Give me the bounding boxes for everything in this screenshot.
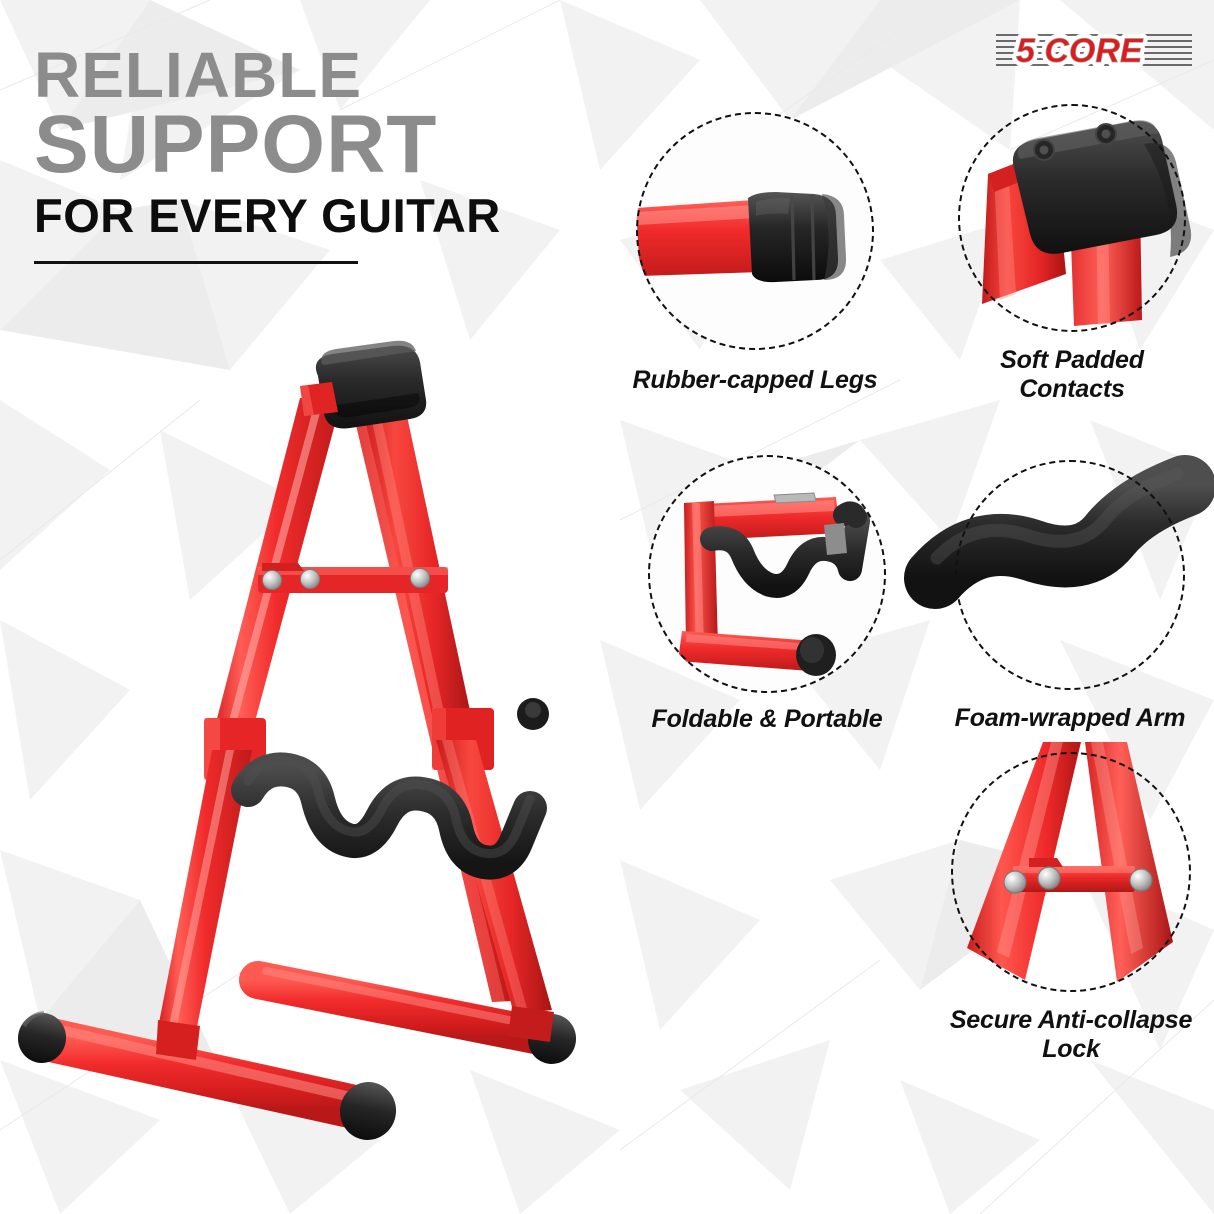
- logo-text: 5 CORE: [1016, 32, 1144, 70]
- callout-label-foam: Foam-wrapped Arm: [930, 704, 1210, 733]
- rubber-cap-leg-icon: [636, 112, 874, 350]
- callout-label-pads: Soft Padded Contacts: [940, 346, 1204, 404]
- headline-line-3: FOR EVERY GUITAR: [34, 192, 501, 239]
- callout-foam-wrapped-arm[interactable]: Foam-wrapped Arm: [930, 460, 1210, 733]
- callout-label-lock: Secure Anti-collapse Lock: [930, 1006, 1212, 1064]
- stand-cross-brace-lock: [258, 563, 448, 593]
- callout-circle-legs: [636, 112, 874, 350]
- callout-label-pads-line2: Contacts: [1019, 375, 1124, 403]
- brand-logo-5core: 5 CORE 5 CORE: [994, 26, 1194, 72]
- padded-contact-icon: [958, 104, 1186, 332]
- headline-block: RELIABLE SUPPORT FOR EVERY GUITAR: [34, 46, 501, 264]
- folded-stand-icon: [648, 455, 886, 693]
- callout-label-fold: Foldable & Portable: [628, 705, 906, 734]
- callout-circle-lock: [951, 752, 1191, 992]
- callout-rubber-capped-legs[interactable]: Rubber-capped Legs: [620, 112, 890, 395]
- callout-label-lock-line1: Secure Anti-collapse: [950, 1006, 1192, 1034]
- callout-circle-foam: [955, 460, 1185, 690]
- callout-foldable-portable[interactable]: Foldable & Portable: [628, 455, 906, 734]
- headline-line-2: SUPPORT: [34, 107, 501, 182]
- headline-line-1: RELIABLE: [34, 46, 501, 105]
- callout-label-legs: Rubber-capped Legs: [620, 366, 890, 395]
- anti-collapse-lock-icon: [951, 752, 1191, 992]
- stand-base-tube-front: [13, 1009, 401, 1146]
- foam-arm-icon: [955, 460, 1185, 690]
- callout-circle-pads: [958, 104, 1186, 332]
- callout-label-lock-line2: Lock: [1042, 1035, 1100, 1063]
- product-image-guitar-stand: [0, 320, 620, 1210]
- callout-anti-collapse-lock[interactable]: Secure Anti-collapse Lock: [930, 752, 1212, 1064]
- headline-divider-rule: [34, 261, 358, 264]
- stand-top-red-tab: [300, 382, 338, 416]
- stand-foam-yoke-arms: [248, 698, 549, 863]
- callout-circle-fold: [648, 455, 886, 693]
- callout-label-pads-line1: Soft Padded: [1000, 346, 1144, 374]
- callout-soft-padded-contacts[interactable]: Soft Padded Contacts: [940, 104, 1204, 404]
